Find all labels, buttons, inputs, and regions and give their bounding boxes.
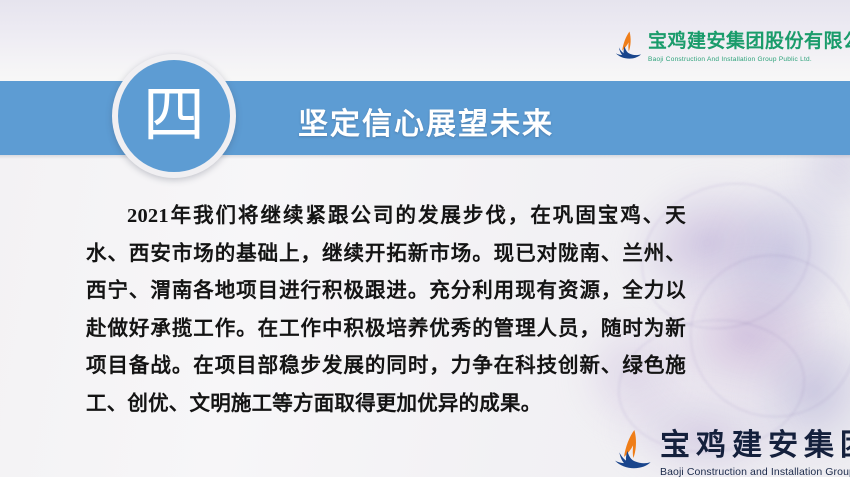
presentation-slide: 四 坚定信心展望未来 2021年我们将继续紧跟公司的发展步伐，在巩固宝鸡、天水、… <box>0 0 850 477</box>
section-title: 坚定信心展望未来 <box>298 99 554 143</box>
flame-swoosh-logo-icon <box>608 30 642 60</box>
flame-swoosh-logo-icon <box>604 427 652 471</box>
body-paragraph: 2021年我们将继续紧跟公司的发展步伐，在巩固宝鸡、天水、西安市场的基础上，继续… <box>86 198 686 423</box>
logo-name-en: Baoji Construction And Installation Grou… <box>648 56 850 63</box>
section-number-label: 四 <box>143 84 205 146</box>
logo-name-cn: 宝鸡建安集团股份有限公司 <box>648 26 850 53</box>
section-number-badge: 四 <box>112 54 236 178</box>
logo-text-block: 宝鸡建安集团 Baoji Construction and Installati… <box>660 420 850 477</box>
logo-text-block: 宝鸡建安集团股份有限公司 Baoji Construction And Inst… <box>648 26 850 63</box>
corporate-logo-top-right: 宝鸡建安集团股份有限公司 Baoji Construction And Inst… <box>608 26 850 63</box>
logo-name-en: Baoji Construction and Installation Grou… <box>660 466 850 477</box>
logo-name-cn: 宝鸡建安集团 <box>660 420 850 464</box>
corporate-logo-bottom-right: 宝鸡建安集团 Baoji Construction and Installati… <box>604 420 850 477</box>
